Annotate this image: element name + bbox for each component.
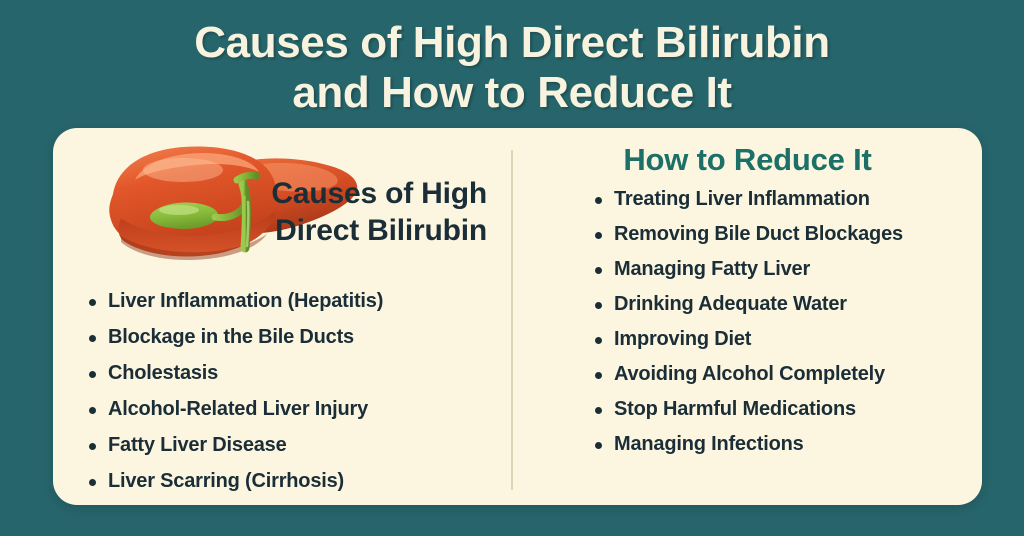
list-item: Managing Infections — [594, 433, 982, 456]
title-line-1: Causes of High Direct Bilirubin — [0, 18, 1024, 68]
infographic-canvas: Causes of High Direct Bilirubin and How … — [0, 0, 1024, 536]
list-item: Managing Fatty Liver — [594, 258, 982, 281]
title-line-2: and How to Reduce It — [0, 68, 1024, 118]
list-item: Treating Liver Inflammation — [594, 188, 982, 211]
list-item: Fatty Liver Disease — [88, 434, 508, 457]
list-item: Improving Diet — [594, 328, 982, 351]
list-item: Stop Harmful Medications — [594, 398, 982, 421]
list-item: Drinking Adequate Water — [594, 293, 982, 316]
content-card: Causes of High Direct Bilirubin Liver In… — [53, 128, 982, 505]
page-title: Causes of High Direct Bilirubin and How … — [0, 18, 1024, 117]
list-item: Blockage in the Bile Ducts — [88, 326, 508, 349]
causes-heading: Causes of High Direct Bilirubin — [197, 176, 487, 249]
list-item: Cholestasis — [88, 362, 508, 385]
remedies-list: Treating Liver Inflammation Removing Bil… — [594, 188, 982, 468]
list-item: Alcohol-Related Liver Injury — [88, 398, 508, 421]
causes-column: Causes of High Direct Bilirubin Liver In… — [53, 128, 511, 505]
list-item: Removing Bile Duct Blockages — [594, 223, 982, 246]
list-item: Liver Inflammation (Hepatitis) — [88, 290, 508, 313]
remedies-column: How to Reduce It Treating Liver Inflamma… — [513, 128, 982, 505]
list-item: Liver Scarring (Cirrhosis) — [88, 470, 508, 493]
how-to-reduce-heading: How to Reduce It — [513, 142, 982, 178]
causes-list: Liver Inflammation (Hepatitis) Blockage … — [88, 290, 508, 505]
list-item: Avoiding Alcohol Completely — [594, 363, 982, 386]
